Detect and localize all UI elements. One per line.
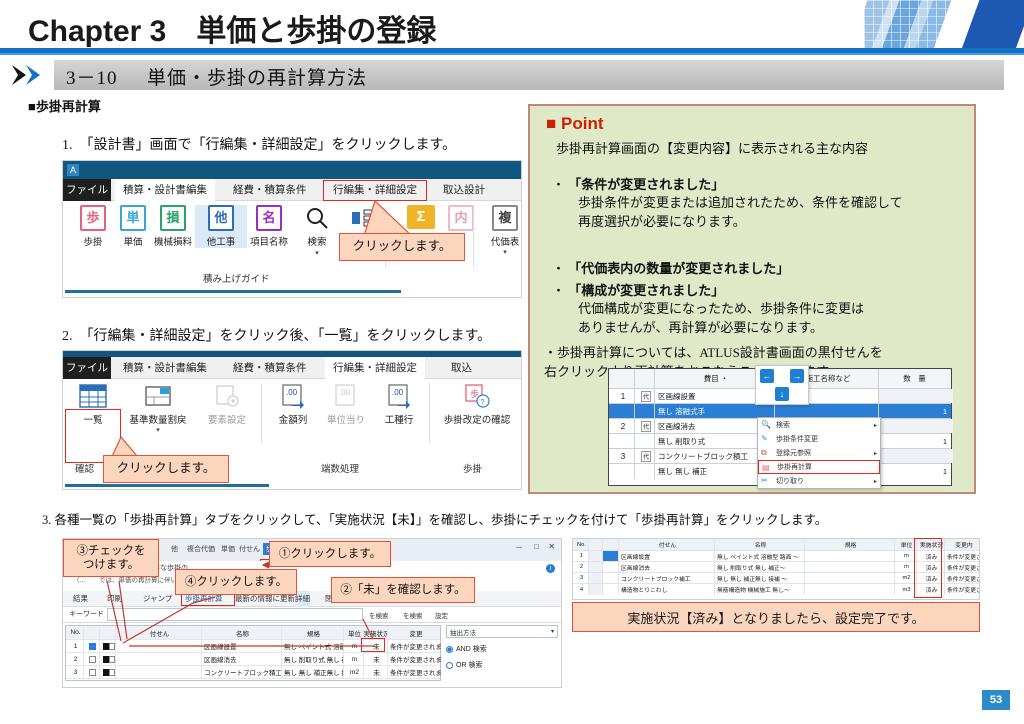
settings-button[interactable]: 設定 bbox=[435, 610, 448, 620]
header-rule-light bbox=[0, 53, 1024, 55]
grid-cell-tag bbox=[100, 640, 116, 652]
pt-row-tag: 代 bbox=[635, 419, 655, 433]
ribbon-button-daikahyo[interactable]: 複 代価表 ▾ bbox=[479, 205, 522, 256]
context-menu-label: 歩掛再計算 bbox=[777, 462, 812, 472]
grid-cell-change: 条件が変更されました bbox=[388, 653, 442, 665]
step-3-text: 3. 各種一覧の「歩掛再計算」タブをクリックして、「実施状況【未】」を確認し、歩… bbox=[42, 509, 827, 528]
search-icon bbox=[304, 205, 330, 231]
result-cell-b bbox=[603, 584, 619, 595]
svg-text:?: ? bbox=[481, 399, 485, 406]
search-input[interactable] bbox=[107, 608, 363, 621]
element-icon bbox=[212, 383, 242, 409]
result-cell-no: 4 bbox=[573, 584, 589, 595]
ribbon2-button-label: 基準数量割戻 bbox=[125, 412, 191, 426]
ribbon2-button-label: 単位当り bbox=[321, 412, 371, 426]
pt-row-tag: 代 bbox=[635, 449, 655, 463]
grid-cell-tag bbox=[100, 666, 116, 678]
dai-tag-icon: 代 bbox=[641, 451, 651, 462]
recalc-icon: ▤ bbox=[762, 463, 772, 473]
ribbon2-button-kingakuretsu[interactable]: .00 金額列 bbox=[269, 383, 317, 426]
toolbar-item-tanka[interactable]: 単価 bbox=[221, 544, 235, 554]
toolbar-item-fukugo[interactable]: 複合代価 bbox=[187, 544, 215, 554]
pt-row-qty bbox=[879, 419, 953, 433]
step-2-text: 2. 「行編集・詳細設定」をクリック後、「一覧」をクリックします。 bbox=[62, 325, 491, 345]
result-cell-change: 条件が変更されました bbox=[945, 551, 980, 561]
pt-row-no: 1 bbox=[609, 389, 635, 403]
chevron-down-icon[interactable]: ▾ bbox=[125, 426, 191, 434]
point-item-1-body: 歩掛条件が変更または追加されたため、条件を確認して 再度選択が必要になります。 bbox=[578, 194, 903, 232]
highlight-box-status-mi bbox=[361, 638, 385, 652]
ribbon-button-label: 項目名称 bbox=[243, 234, 295, 248]
point-title: ■ Point bbox=[546, 114, 603, 134]
pt-row-detail: 無し 溶融式手 bbox=[655, 404, 775, 418]
result-cell-no: 3 bbox=[573, 573, 589, 583]
bullet-mark: ・ bbox=[552, 177, 565, 192]
menu-item-insatsu[interactable]: 印刷 bbox=[107, 591, 122, 607]
context-menu-item-hogakejoken[interactable]: ✎ 歩掛条件変更 bbox=[758, 432, 880, 446]
decimal-icon: .00 bbox=[278, 383, 308, 409]
ribbon2-button-label: 工種行 bbox=[375, 412, 423, 426]
result-cell-b bbox=[603, 551, 619, 561]
result-cell-spec2 bbox=[805, 562, 895, 572]
search-button-1[interactable]: を検索 bbox=[369, 610, 389, 620]
result-cell-a bbox=[589, 562, 603, 572]
result-cell-spec2 bbox=[805, 573, 895, 583]
extraction-method-label: 抽出方法 bbox=[450, 627, 476, 637]
pt-row-no bbox=[609, 404, 635, 418]
grid-cell-no: 3 bbox=[66, 666, 84, 678]
menu-item-shosai[interactable]: 詳細 bbox=[295, 591, 310, 607]
result-cell-name: 区画線設置 bbox=[619, 551, 715, 561]
grid-cell-spec: 無し ペイント式 溶融型 路面 ～ bbox=[282, 640, 344, 652]
grid-cell-spec: 無し 削取り式 無し 補正～ bbox=[282, 653, 344, 665]
sonryo-icon: 損 bbox=[160, 205, 186, 231]
grid-cell-tag bbox=[100, 653, 116, 665]
ribbon2-group-label-hogake: 歩掛 bbox=[463, 461, 482, 475]
callout-step-3: ③チェックを つけます。 bbox=[63, 539, 159, 577]
pt-row-work bbox=[775, 404, 879, 418]
grid-cell-change: 条件が変更されました bbox=[388, 666, 442, 678]
dai-tag-icon: 代 bbox=[641, 391, 651, 402]
note-completion: 実施状況【済み】となりましたら、設定完了です。 bbox=[572, 602, 980, 632]
context-menu-item-kensaku[interactable]: 🔍 検索 ▸ bbox=[758, 418, 880, 432]
screenshot-ribbon-top: A ファイル 積算・設計書編集 経費・積算条件 行編集・詳細設定 取込設計 歩 … bbox=[62, 160, 522, 298]
pt-row-tag bbox=[635, 464, 655, 479]
screenshot-ribbon-detail: ファイル 積算・設計書編集 経費・積算条件 行編集・詳細設定 取込 一覧 bbox=[62, 350, 522, 490]
ribbon2-button-yosoSettei: 要素設定 bbox=[199, 383, 255, 426]
pt-row-qty bbox=[879, 389, 953, 403]
chevron-down-icon: ▾ bbox=[551, 628, 554, 635]
svg-text:.00: .00 bbox=[392, 388, 404, 397]
ribbon-button-kensaku[interactable]: 検索 ▾ bbox=[291, 205, 343, 257]
pt-row-tag: 代 bbox=[635, 389, 655, 403]
nav-down-icon[interactable]: ↓ bbox=[775, 387, 789, 401]
ribbon2-tabstrip: ファイル 積算・設計書編集 経費・積算条件 行編集・詳細設定 取込 bbox=[63, 357, 521, 379]
result-cell-spec2 bbox=[805, 551, 895, 561]
callout-click-1: クリックします。 bbox=[339, 233, 465, 261]
result-th-spec: 規格 bbox=[805, 539, 895, 550]
ribbon-button-kikaisonryo[interactable]: 損 機械損料 bbox=[147, 205, 199, 248]
result-cell-spec: 無し ペイント式 溶融型 路面 ～ bbox=[715, 551, 805, 561]
ribbon-button-label: 検索 bbox=[291, 234, 343, 248]
nav-left-icon[interactable]: ← bbox=[760, 369, 774, 383]
result-cell-spec2 bbox=[805, 584, 895, 595]
grid-cell-no: 1 bbox=[66, 640, 84, 652]
screenshot-recalc-dialog: － □ ✕ 他 複合代価 単価 付せん 歩掛再計算 計算が必要な歩掛の （… で… bbox=[62, 538, 562, 688]
radio-label: AND 検索 bbox=[456, 644, 487, 654]
result-cell-name: コンクリートブロック補工 bbox=[619, 573, 715, 583]
ribbon2-button-tanni: .00 単位当り bbox=[321, 383, 371, 426]
toolbar-item-fusen[interactable]: 付せん bbox=[239, 544, 260, 554]
result-cell-name: 区画線消去 bbox=[619, 562, 715, 572]
result-th-a bbox=[589, 539, 603, 550]
point-item-3-body: 代価構成が変更になったため、歩掛条件に変更は ありませんが、再計算が必要になりま… bbox=[578, 300, 864, 338]
pt-th-0 bbox=[609, 369, 635, 388]
ribbon-tab-sekisan[interactable]: 積算・設計書編集 bbox=[115, 179, 215, 201]
table-card-icon bbox=[143, 383, 173, 409]
context-menu-label: 検索 bbox=[776, 420, 790, 430]
ribbon2-tab-keihi[interactable]: 経費・積算条件 bbox=[225, 357, 315, 379]
maximize-icon[interactable]: □ bbox=[534, 542, 539, 551]
tanka-icon: 単 bbox=[120, 205, 146, 231]
hosho-icon: 歩 ? bbox=[462, 383, 492, 409]
grid-cell-no: 2 bbox=[66, 653, 84, 665]
ribbon-button-tree[interactable] bbox=[337, 205, 389, 231]
ribbon-group-label: 積み上げガイド bbox=[203, 271, 270, 285]
ribbon2-button-koshugyo[interactable]: .00 工種行 bbox=[375, 383, 423, 426]
ribbon2-group-label-kakunin: 確認 bbox=[75, 461, 94, 475]
radio-or-search[interactable]: OR 検索 bbox=[446, 660, 558, 670]
result-cell-name: 構造物とりこわし bbox=[619, 584, 715, 595]
result-cell-b bbox=[603, 562, 619, 572]
grid-icon bbox=[78, 383, 108, 409]
grid-cell-status: 未 bbox=[364, 653, 388, 665]
submenu-arrow-icon: ▸ bbox=[874, 478, 877, 485]
hogake-icon: 歩 bbox=[80, 205, 106, 231]
ribbon-button-label: 機械損料 bbox=[147, 234, 199, 248]
result-th-change: 変更内 bbox=[945, 539, 980, 550]
toolbar-item-ta[interactable]: 他 bbox=[171, 544, 178, 554]
point-box: ■ Point 歩掛再計算画面の【変更内容】に表示される主な内容 ・ 「条件が変… bbox=[528, 104, 976, 494]
context-menu-label: 歩掛条件変更 bbox=[776, 434, 818, 444]
highlight-box-status-column bbox=[914, 538, 942, 598]
ribbon-button-label: 代価表 bbox=[479, 234, 522, 248]
edit-icon: ✎ bbox=[761, 434, 771, 444]
sigma-folder-icon: Σ bbox=[407, 205, 435, 229]
callout-step-2: ②「未」を確認します。 bbox=[331, 577, 475, 603]
tree-icon bbox=[350, 205, 376, 231]
grid-cell-fusen bbox=[116, 666, 202, 678]
callout-click-2: クリックします。 bbox=[103, 455, 229, 483]
header-decoration bbox=[864, 0, 1024, 52]
result-cell-a bbox=[589, 573, 603, 583]
pt-row-qty: 1 bbox=[879, 464, 953, 479]
section-number: 3－10 bbox=[66, 68, 118, 89]
takoji-icon: 他 bbox=[208, 205, 234, 231]
menu-item-kekka[interactable]: 結果 bbox=[73, 591, 88, 607]
submenu-arrow-icon: ▸ bbox=[874, 422, 877, 429]
grid-cell-name: 区画線設置 bbox=[202, 640, 282, 652]
ribbon-button-komokumeisho[interactable]: 名 項目名称 bbox=[243, 205, 295, 248]
result-th-no: No. bbox=[573, 539, 589, 550]
ribbon2-button-kijunsuryo[interactable]: 基準数量割戻 ▾ bbox=[125, 383, 191, 434]
ribbon2-tab-file[interactable]: ファイル bbox=[63, 357, 111, 379]
dialog-menubar: 結果 印刷 ジャンプ 歩掛再計算 最新の情報に更新 詳細 閉じる bbox=[63, 591, 561, 607]
bullet-mark: ・ bbox=[552, 283, 565, 298]
pt-th-4: 数 量 bbox=[879, 369, 953, 388]
grid-th-chk bbox=[84, 626, 100, 639]
result-cell-spec: 無筋構造物 機械施工 無し～ bbox=[715, 584, 805, 595]
result-cell-change: 条件が変更されました bbox=[945, 584, 980, 595]
callout-step-4: ④クリックします。 bbox=[175, 569, 297, 595]
page-title: Chapter 3 単価と歩掛の登録 bbox=[28, 6, 436, 50]
pt-row-qty: 1 bbox=[879, 434, 953, 448]
pt-row-no: 2 bbox=[609, 419, 635, 433]
link-icon: ⧉ bbox=[761, 448, 771, 458]
point-item-3-bold: 「構成が変更されました」 bbox=[568, 283, 724, 298]
decimal-icon: .00 bbox=[331, 383, 361, 409]
point-bullet-3: ・ 「構成が変更されました」 bbox=[552, 280, 724, 299]
ribbon2-tab-torikomi[interactable]: 取込 bbox=[443, 357, 480, 379]
ribbon2-button-label: 要素設定 bbox=[199, 412, 255, 426]
table-row[interactable]: 3 コンクリートブロック積工 無し 無し 補正無し 接着～ m2 未 条件が変更… bbox=[66, 666, 440, 679]
grid-cell-name: 区画線消去 bbox=[202, 653, 282, 665]
context-menu-item-torokumoto[interactable]: ⧉ 登録元参照 ▸ bbox=[758, 446, 880, 460]
grid-th-no: No. bbox=[66, 626, 84, 639]
svg-text:.00: .00 bbox=[339, 388, 351, 397]
result-cell-spec: 無し 無し 補正無し 接補 ～ bbox=[715, 573, 805, 583]
menu-item-jump[interactable]: ジャンプ bbox=[143, 591, 172, 607]
daikahyo-icon: 複 bbox=[492, 205, 518, 231]
pt-row-no bbox=[609, 434, 635, 448]
grid-cell-spec: 無し 無し 補正無し 接着～ bbox=[282, 666, 344, 678]
app-logo-icon: A bbox=[67, 164, 79, 176]
meisho-icon: 名 bbox=[256, 205, 282, 231]
ribbon2-titlebar bbox=[63, 351, 521, 357]
extraction-method-select[interactable]: 抽出方法 ▾ bbox=[446, 625, 558, 638]
grid-cell-status: 未 bbox=[364, 666, 388, 678]
point-bullet-1: ・ 「条件が変更されました」 bbox=[552, 174, 724, 193]
pt-row-no bbox=[609, 464, 635, 479]
result-cell-a bbox=[589, 584, 603, 595]
nav-right-icon[interactable]: → bbox=[790, 369, 804, 383]
nav-popup[interactable]: ← → ↓ bbox=[755, 365, 809, 405]
callout-step-1: ①クリックします。 bbox=[269, 541, 391, 567]
ribbon2-tab-gyohenshu[interactable]: 行編集・詳細設定 bbox=[325, 357, 425, 379]
grid-cell-unit: m2 bbox=[344, 666, 364, 678]
radio-label: OR 検索 bbox=[456, 660, 482, 670]
result-th-name: 名称 bbox=[715, 539, 805, 550]
decimal-icon: .00 bbox=[384, 383, 414, 409]
grid-cell-fusen bbox=[116, 640, 202, 652]
grid-cell-check[interactable] bbox=[84, 640, 100, 652]
section-heading: 3－10 単価・歩掛の再計算方法 bbox=[66, 63, 367, 90]
context-menu-item-kiritori[interactable]: ✂ 切り取り ▸ bbox=[758, 474, 880, 488]
radio-and-search[interactable]: AND 検索 bbox=[446, 644, 558, 654]
grid-th-tag bbox=[100, 626, 116, 639]
result-th-b bbox=[603, 539, 619, 550]
nai-icon: 内 bbox=[448, 205, 474, 231]
context-menu-label: 切り取り bbox=[776, 476, 804, 486]
grid-th-fusen: 付せん bbox=[116, 626, 202, 639]
close-icon[interactable]: ✕ bbox=[548, 542, 555, 551]
highlight-box-gyohenshu-tab bbox=[323, 180, 427, 201]
grid-th-change: 変更 bbox=[388, 626, 442, 639]
context-menu-label: 登録元参照 bbox=[776, 448, 811, 458]
section-title: 単価・歩掛の再計算方法 bbox=[147, 68, 367, 89]
step-1-text: 1. 「設計書」画面で「行編集・詳細設定」をクリックします。 bbox=[62, 134, 456, 154]
dai-tag-icon: 代 bbox=[641, 421, 651, 432]
scissors-icon: ✂ bbox=[761, 476, 771, 486]
grid-cell-name: コンクリートブロック積工 bbox=[202, 666, 282, 678]
chevron-down-icon[interactable]: ▾ bbox=[291, 249, 343, 257]
pt-row-tag bbox=[635, 434, 655, 448]
grid-cell-change: 条件が変更されました bbox=[388, 640, 442, 652]
dialog-keyword-row: キーワード を検索 を検索 設定 bbox=[63, 607, 561, 623]
result-cell-no: 1 bbox=[573, 551, 589, 561]
chevron-down-icon[interactable]: ▾ bbox=[479, 248, 522, 256]
ribbon2-button-hogakekaitei[interactable]: 歩 ? 歩掛改定の確認 bbox=[439, 383, 515, 426]
dialog-result-grid: No. 付せん 名称 規格 単位 実施状況 変更 1 区画線設置 無し ペイント… bbox=[65, 625, 441, 681]
page-number-badge: 53 bbox=[982, 690, 1010, 710]
screenshot-design-sheet: 費目 ・ 施工名称など 数 量 1 代 区画線設置 無し 溶融式手 1 2 代 … bbox=[608, 368, 952, 486]
point-item-2-bold: 「代価表内の数量が変更されました」 bbox=[568, 261, 789, 276]
ribbon2-group-label-hasu: 端数処理 bbox=[321, 461, 359, 475]
ribbon-tab-file[interactable]: ファイル bbox=[63, 179, 111, 201]
context-menu[interactable]: 🔍 検索 ▸ ✎ 歩掛条件変更 ⧉ 登録元参照 ▸ ▤ 歩掛再計算 ✂ 切り取り… bbox=[757, 417, 881, 489]
chevron-right-icon bbox=[8, 62, 52, 88]
minimize-icon[interactable]: － bbox=[515, 542, 523, 553]
result-cell-b bbox=[603, 573, 619, 583]
ribbon-tab-torikomi[interactable]: 取込設計 bbox=[435, 179, 493, 201]
point-subtitle: 歩掛再計算画面の【変更内容】に表示される主な内容 bbox=[556, 138, 868, 157]
point-item-1-bold: 「条件が変更されました」 bbox=[568, 177, 724, 192]
pt-row-no: 3 bbox=[609, 449, 635, 463]
ribbon2-button-label: 金額列 bbox=[269, 412, 317, 426]
pt-th-1 bbox=[635, 369, 655, 388]
search-button-2[interactable]: を検索 bbox=[403, 610, 423, 620]
sub-heading: ■歩掛再計算 bbox=[28, 96, 101, 115]
radio-icon bbox=[446, 646, 453, 653]
result-th-fusen: 付せん bbox=[619, 539, 715, 550]
ribbon2-tab-sekisan[interactable]: 積算・設計書編集 bbox=[115, 357, 215, 379]
ribbon-button-takoji[interactable]: 他 他工事 bbox=[195, 205, 247, 248]
result-cell-no: 2 bbox=[573, 562, 589, 572]
context-menu-item-hogakesaikeisan[interactable]: ▤ 歩掛再計算 bbox=[758, 460, 880, 474]
svg-text:.00: .00 bbox=[286, 388, 298, 397]
result-cell-change: 条件が変更されました bbox=[945, 573, 980, 583]
table-row[interactable]: 2 区画線消去 無し 削取り式 無し 補正～ m 未 条件が変更されました bbox=[66, 653, 440, 666]
grid-cell-check[interactable] bbox=[84, 666, 100, 678]
help-icon[interactable]: i bbox=[546, 564, 555, 573]
ribbon-tab-keihi[interactable]: 経費・積算条件 bbox=[225, 179, 315, 201]
grid-cell-check[interactable] bbox=[84, 653, 100, 665]
result-cell-a bbox=[589, 551, 603, 561]
app-titlebar: A bbox=[63, 161, 521, 179]
result-cell-spec: 無し 削取り式 無し 補正～ bbox=[715, 562, 805, 572]
grid-th-name: 名称 bbox=[202, 626, 282, 639]
ribbon-tabstrip: ファイル 積算・設計書編集 経費・積算条件 行編集・詳細設定 取込設計 bbox=[63, 179, 521, 201]
pt-row-qty: 1 bbox=[879, 404, 953, 418]
submenu-arrow-icon: ▸ bbox=[874, 450, 877, 457]
ribbon2-button-label: 歩掛改定の確認 bbox=[439, 412, 515, 426]
grid-cell-unit: m bbox=[344, 653, 364, 665]
radio-icon bbox=[446, 662, 453, 669]
point-bullet-2: ・ 「代価表内の数量が変更されました」 bbox=[552, 258, 789, 277]
dialog-side-panel: 抽出方法 ▾ AND 検索 OR 検索 bbox=[446, 625, 558, 681]
bullet-mark: ・ bbox=[552, 261, 565, 276]
grid-th-spec: 規格 bbox=[282, 626, 344, 639]
keyword-label: キーワード bbox=[69, 609, 104, 619]
result-cell-change: 条件が変更されました bbox=[945, 562, 980, 572]
search-icon: 🔍 bbox=[761, 420, 771, 430]
pt-row-qty bbox=[879, 449, 953, 463]
grid-cell-fusen bbox=[116, 653, 202, 665]
pt-row-tag bbox=[635, 404, 655, 418]
ribbon-button-label: 他工事 bbox=[195, 234, 247, 248]
page-header: Chapter 3 単価と歩掛の登録 bbox=[0, 0, 1024, 58]
